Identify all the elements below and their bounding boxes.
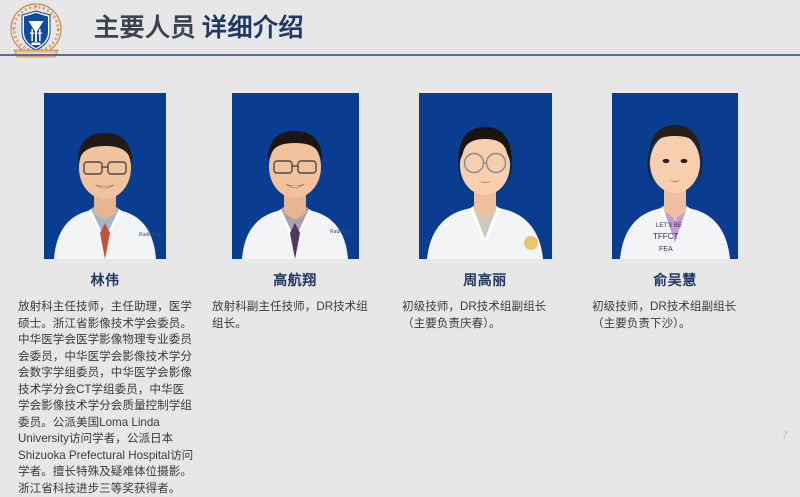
portrait-photo-2: Radiology xyxy=(232,93,359,259)
svg-text:TFFCT: TFFCT xyxy=(653,232,678,241)
person-name: 周高丽 xyxy=(390,270,580,290)
person-card: Radiology 高航翔 放射科副主任技师，DR技术组组长。 xyxy=(200,88,390,332)
svg-text:FEA: FEA xyxy=(659,246,673,253)
portrait-photo-3 xyxy=(419,93,552,259)
person-card: LET'S BE TFFCT FEA 俞吴慧 初级技师，DR技术组副组长（主要负… xyxy=(580,88,770,332)
person-bio: 初级技师，DR技术组副组长（主要负责庆春）。 xyxy=(390,299,580,332)
portrait-photo-4: LET'S BE TFFCT FEA xyxy=(612,93,738,259)
portrait-photo-1: Radiology xyxy=(44,93,166,259)
slide-header: 主要人员详细介绍 xyxy=(0,0,800,60)
page-title-sub: 详细介绍 xyxy=(202,14,304,42)
people-grid: Radiology 林伟 放射科主任技师，主任助理，医学硕士。浙江省影像技术学会… xyxy=(0,88,800,448)
person-name: 高航翔 xyxy=(200,270,390,290)
person-name: 林伟 xyxy=(10,270,200,290)
page-title: 主要人员详细介绍 xyxy=(94,12,304,44)
hospital-crest-logo xyxy=(6,2,66,60)
svg-text:Radiology: Radiology xyxy=(330,229,353,235)
person-bio: 初级技师，DR技术组副组长（主要负责下沙）。 xyxy=(580,299,770,332)
person-name: 俞吴慧 xyxy=(580,270,770,290)
person-bio: 放射科主任技师，主任助理，医学硕士。浙江省影像技术学会委员。中华医学会医学影像物… xyxy=(10,299,200,497)
person-card: 周高丽 初级技师，DR技术组副组长（主要负责庆春）。 xyxy=(390,88,580,332)
page-title-main: 主要人员 xyxy=(94,14,196,42)
header-divider xyxy=(0,54,800,56)
person-card: Radiology 林伟 放射科主任技师，主任助理，医学硕士。浙江省影像技术学会… xyxy=(10,88,200,497)
svg-text:Radiology: Radiology xyxy=(139,232,162,238)
page-number: 7 xyxy=(782,430,788,442)
person-bio: 放射科副主任技师，DR技术组组长。 xyxy=(200,299,390,332)
svg-text:LET'S BE: LET'S BE xyxy=(656,223,682,229)
